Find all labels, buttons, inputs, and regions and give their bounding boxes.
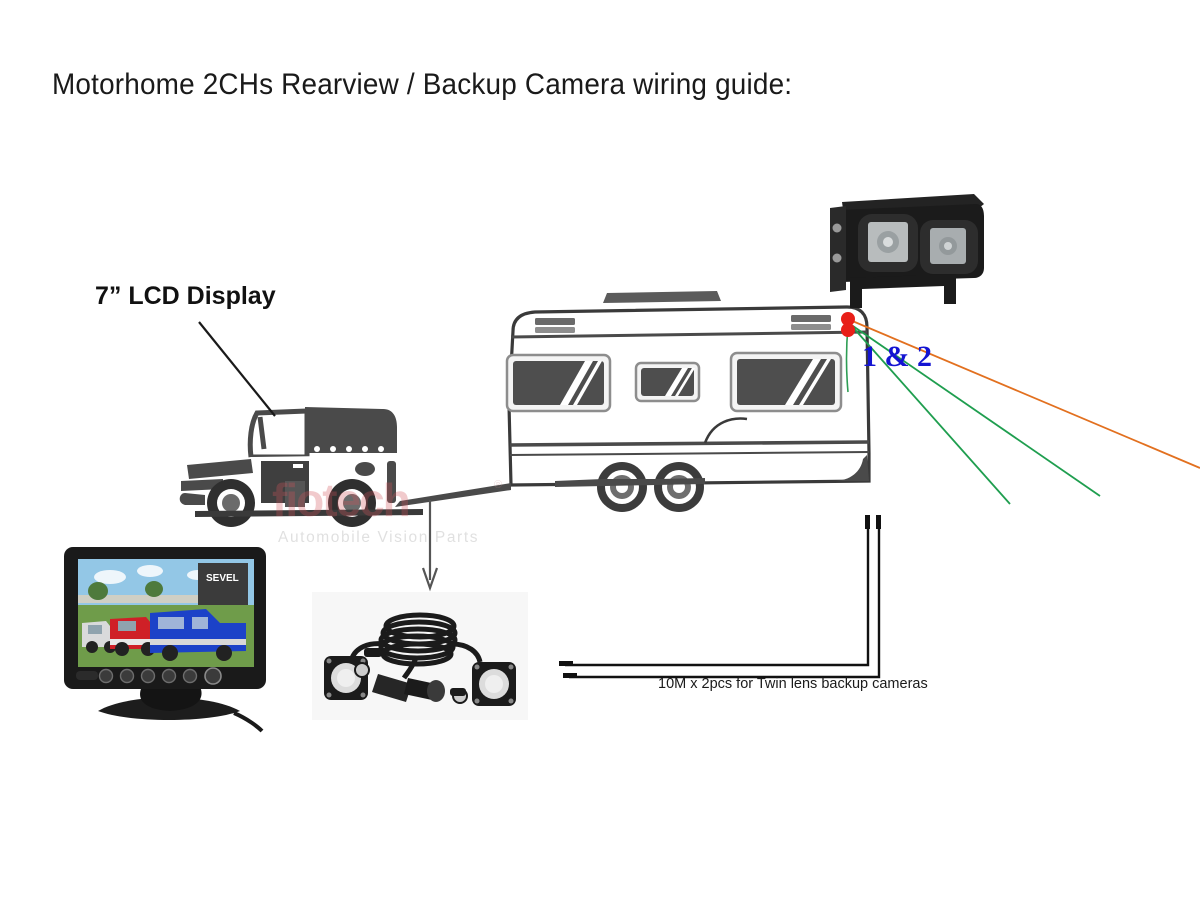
connection-dot-lower xyxy=(841,323,855,337)
cable-kit-illustration xyxy=(312,592,528,720)
monitor-button-1[interactable] xyxy=(100,670,113,683)
tow-vehicle-door-handle xyxy=(293,464,303,468)
wire-run-2-end-cap xyxy=(563,673,577,678)
wire-run-1-end-cap xyxy=(559,661,573,666)
camera-bracket-screw-upper xyxy=(833,224,842,233)
monitor-screen-cloud-1 xyxy=(94,570,126,584)
lcd-leader-line xyxy=(195,318,325,428)
wire-run-1 xyxy=(565,517,868,665)
diagram-canvas: Motorhome 2CHs Rearview / Backup Camera … xyxy=(0,0,1200,900)
wire-run-2-top-cap xyxy=(876,515,881,529)
caravan-window-front xyxy=(507,355,610,411)
camera-view-lines xyxy=(760,300,1200,530)
caravan-window-middle xyxy=(636,363,699,401)
camera-lens-left xyxy=(858,214,918,272)
brand-watermark: fiotech ® Automobile Vision Parts xyxy=(272,472,522,552)
watermark-tagline: Automobile Vision Parts xyxy=(278,529,479,546)
channel-label: 1 & 2 xyxy=(862,340,932,374)
camera-bracket-screw-lower xyxy=(833,254,842,263)
monitor-screen-cloud-2 xyxy=(137,565,163,577)
monitor-button-5[interactable] xyxy=(184,670,197,683)
lcd-monitor-illustration: SEVEL xyxy=(58,543,278,731)
monitor-screen-building xyxy=(198,563,248,605)
wire-run-1-top-cap xyxy=(865,515,870,529)
camera-bracket-left xyxy=(830,206,846,292)
tow-vehicle-wheel-front xyxy=(207,479,255,527)
watermark-brand: fiotech xyxy=(272,474,409,526)
camera-lens-right xyxy=(920,220,978,274)
monitor-power-cable xyxy=(234,713,262,731)
page-title: Motorhome 2CHs Rearview / Backup Camera … xyxy=(52,68,792,102)
monitor-button-2[interactable] xyxy=(121,670,134,683)
lcd-display-label: 7” LCD Display xyxy=(95,282,276,311)
monitor-screen-tree-1 xyxy=(88,582,108,600)
backup-camera-illustration xyxy=(824,186,1004,316)
wire-runs xyxy=(555,505,895,685)
monitor-screen-tree-2 xyxy=(145,581,163,597)
watermark-registered-mark: ® xyxy=(494,479,502,491)
monitor-ir-window xyxy=(76,671,98,680)
monitor-screen-sign: SEVEL xyxy=(206,573,239,584)
tow-vehicle-front-guard xyxy=(180,493,205,505)
monitor-button-3[interactable] xyxy=(142,670,155,683)
monitor-power-button[interactable] xyxy=(205,668,221,684)
cable-length-caption: 10M x 2pcs for Twin lens backup cameras xyxy=(658,676,928,692)
monitor-button-4[interactable] xyxy=(163,670,176,683)
wire-run-2 xyxy=(569,517,879,677)
cable-kit-connector-right xyxy=(472,662,516,706)
caravan-roof-ac xyxy=(603,291,721,303)
